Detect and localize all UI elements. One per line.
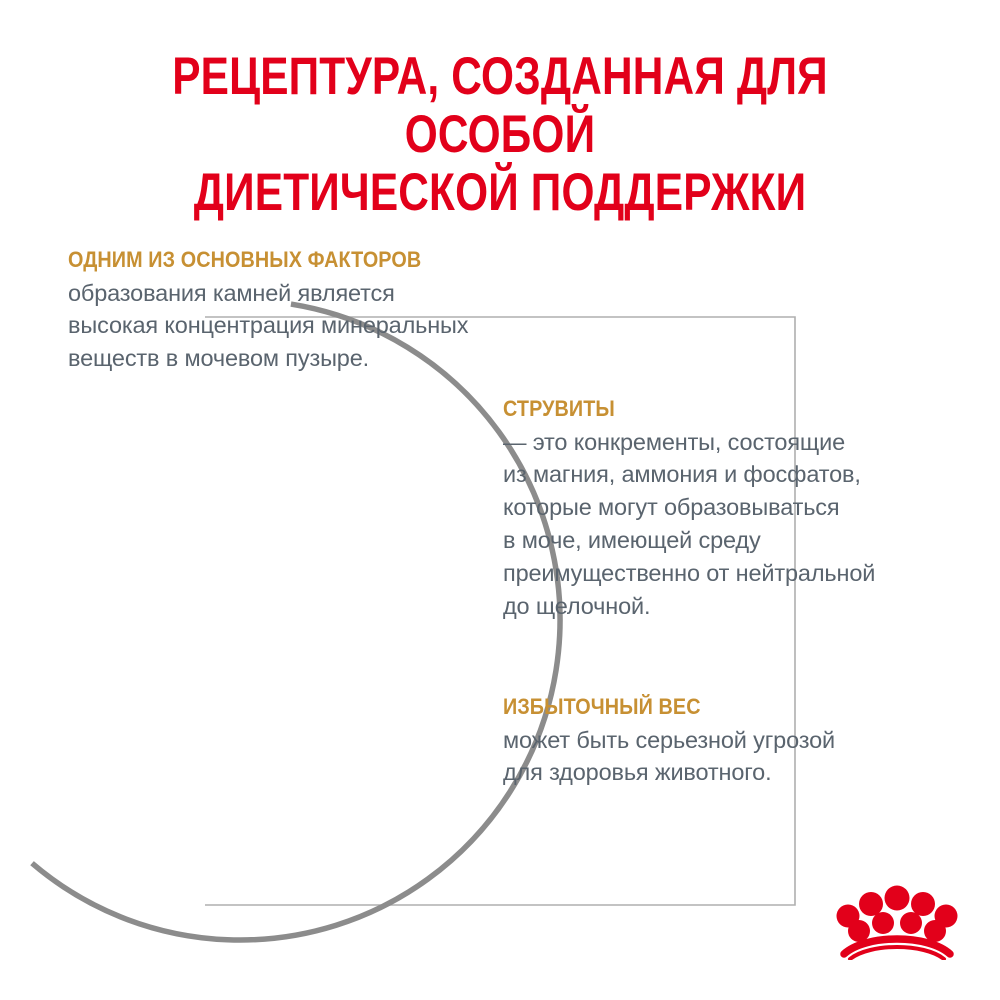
info-block-weight-body: может быть серьезной угрозой для здоровь…: [503, 724, 973, 790]
info-block-factors: ОДНИМ ИЗ ОСНОВНЫХ ФАКТОРОВ образования к…: [68, 247, 588, 375]
poster-canvas: РЕЦЕПТУРА, СОЗДАННАЯ ДЛЯ ОСОБОЙ ДИЕТИЧЕС…: [0, 0, 1000, 1000]
info-block-factors-lead: ОДНИМ ИЗ ОСНОВНЫХ ФАКТОРОВ: [68, 247, 526, 274]
cat-photo: [0, 390, 510, 1000]
info-block-weight-lead: ИЗБЫТОЧНЫЙ ВЕС: [503, 694, 917, 721]
info-block-struvite: СТРУВИТЫ — это конкременты, состоящие из…: [503, 396, 973, 623]
info-block-factors-body: образования камней является высокая конц…: [68, 277, 588, 376]
page-title: РЕЦЕПТУРА, СОЗДАННАЯ ДЛЯ ОСОБОЙ ДИЕТИЧЕС…: [132, 48, 868, 221]
info-block-struvite-lead: СТРУВИТЫ: [503, 396, 917, 423]
info-block-weight: ИЗБЫТОЧНЫЙ ВЕС может быть серьезной угро…: [503, 694, 973, 789]
info-block-struvite-body: — это конкременты, состоящие из магния, …: [503, 426, 973, 623]
royal-canin-crown-icon: [836, 876, 958, 960]
